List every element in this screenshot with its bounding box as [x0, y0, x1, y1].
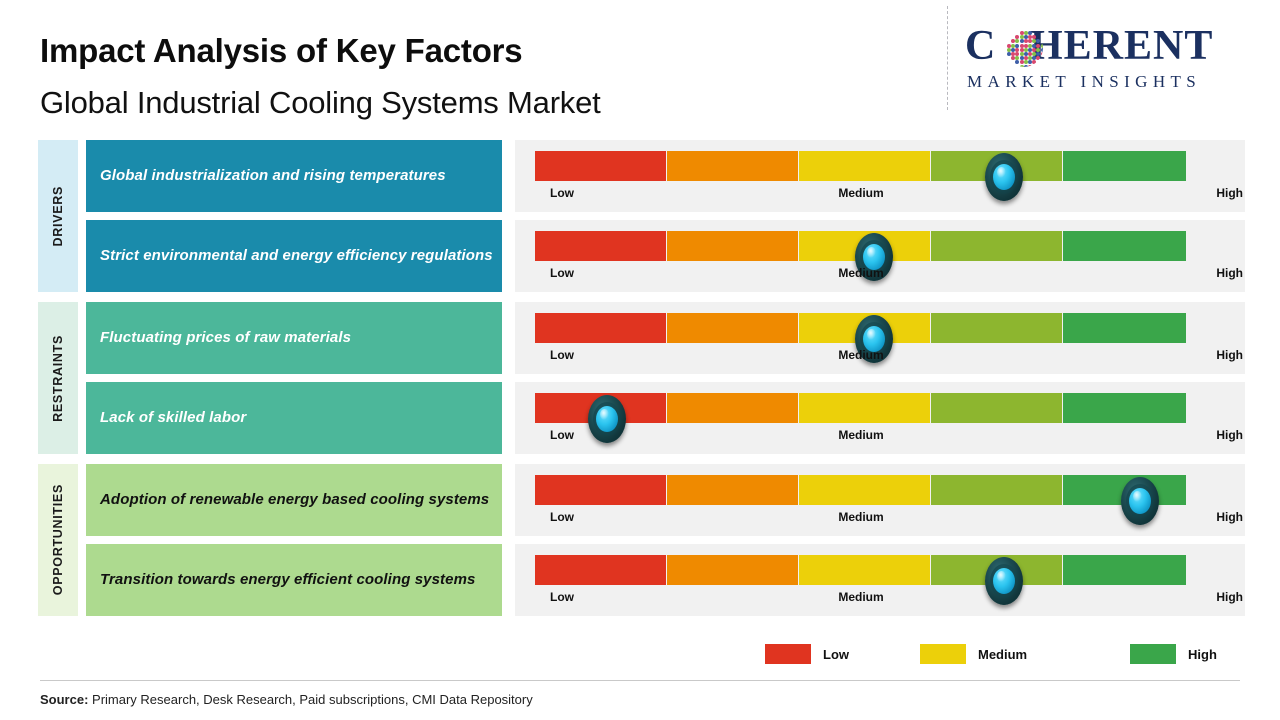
legend-label: High: [1188, 647, 1217, 662]
gauge-segment-0: [535, 475, 666, 505]
gauge-bar: [535, 393, 1186, 423]
gauge-segment-0: [535, 151, 666, 181]
gauge-segment-3: [931, 313, 1062, 343]
gauge-tick-medium: Medium: [838, 510, 883, 524]
impact-gauge: LowMediumHigh: [515, 220, 1245, 292]
factor-box[interactable]: Strict environmental and energy efficien…: [86, 220, 502, 292]
logo-divider: [947, 6, 948, 110]
matrix-row: Transition towards energy efficient cool…: [0, 544, 1280, 616]
logo-word-pre: C: [965, 23, 996, 69]
gauge-segment-0: [535, 555, 666, 585]
gauge-tick-high: High: [1216, 510, 1243, 524]
gauge-tick-high: High: [1216, 186, 1243, 200]
gauge-tick-low: Low: [550, 590, 574, 604]
factor-label: Transition towards energy efficient cool…: [100, 569, 475, 591]
gauge-tick-high: High: [1216, 590, 1243, 604]
gauge-ticks: LowMediumHigh: [535, 186, 1243, 204]
globe-icon: [1005, 29, 1043, 67]
impact-gauge: LowMediumHigh: [515, 382, 1245, 454]
impact-matrix: DRIVERSRESTRAINTSOPPORTUNITIESGlobal ind…: [0, 140, 1280, 610]
gauge-tick-low: Low: [550, 266, 574, 280]
gauge-ticks: LowMediumHigh: [535, 266, 1243, 284]
logo-tagline: MARKET INSIGHTS: [967, 72, 1263, 92]
gauge-segment-2: [799, 231, 930, 261]
gauge-tick-medium: Medium: [838, 348, 883, 362]
gauge-segment-0: [535, 231, 666, 261]
logo-word-post: HERENT: [1030, 23, 1213, 69]
gauge-segment-4: [1063, 313, 1186, 343]
factor-label: Global industrialization and rising temp…: [100, 165, 446, 187]
gauge-segment-4: [1063, 231, 1186, 261]
coherent-market-insights-logo: COHERENT MARKET INSIGHTS: [965, 22, 1265, 104]
gauge-segment-4: [1063, 475, 1186, 505]
gauge-tick-high: High: [1216, 266, 1243, 280]
gauge-segment-4: [1063, 393, 1186, 423]
gauge-segment-3: [931, 393, 1062, 423]
factor-box[interactable]: Lack of skilled labor: [86, 382, 502, 454]
matrix-row: Adoption of renewable energy based cooli…: [0, 464, 1280, 536]
source-note: Source: Primary Research, Desk Research,…: [40, 692, 533, 707]
impact-gauge: LowMediumHigh: [515, 464, 1245, 536]
gauge-bar: [535, 313, 1186, 343]
gauge-ticks: LowMediumHigh: [535, 428, 1243, 446]
gauge-bar: [535, 555, 1186, 585]
gauge-segment-4: [1063, 151, 1186, 181]
gauge-segment-1: [667, 393, 798, 423]
factor-label: Fluctuating prices of raw materials: [100, 327, 351, 349]
gauge-tick-low: Low: [550, 510, 574, 524]
factor-box[interactable]: Transition towards energy efficient cool…: [86, 544, 502, 616]
factor-label: Lack of skilled labor: [100, 407, 246, 429]
gauge-segment-2: [799, 475, 930, 505]
gauge-segment-3: [931, 151, 1062, 181]
factor-box[interactable]: Adoption of renewable energy based cooli…: [86, 464, 502, 536]
impact-gauge: LowMediumHigh: [515, 302, 1245, 374]
legend-item: Medium: [920, 644, 1027, 664]
gauge-segment-2: [799, 313, 930, 343]
legend-swatch: [765, 644, 811, 664]
gauge-tick-high: High: [1216, 348, 1243, 362]
page-subtitle: Global Industrial Cooling Systems Market: [40, 85, 601, 121]
slide: Impact Analysis of Key Factors Global In…: [0, 0, 1280, 720]
factor-box[interactable]: Fluctuating prices of raw materials: [86, 302, 502, 374]
gauge-tick-medium: Medium: [838, 590, 883, 604]
gauge-segment-2: [799, 151, 930, 181]
matrix-row: Fluctuating prices of raw materialsLowMe…: [0, 302, 1280, 374]
gauge-segment-0: [535, 313, 666, 343]
gauge-segment-2: [799, 555, 930, 585]
gauge-bar: [535, 231, 1186, 261]
gauge-segment-1: [667, 555, 798, 585]
legend-label: Low: [823, 647, 849, 662]
gauge-segment-4: [1063, 555, 1186, 585]
source-text: Primary Research, Desk Research, Paid su…: [88, 692, 532, 707]
gauge-segment-1: [667, 475, 798, 505]
gauge-ticks: LowMediumHigh: [535, 348, 1243, 366]
factor-box[interactable]: Global industrialization and rising temp…: [86, 140, 502, 212]
gauge-segment-1: [667, 313, 798, 343]
gauge-segment-3: [931, 475, 1062, 505]
footer-divider: [40, 680, 1240, 681]
source-label: Source:: [40, 692, 88, 707]
gauge-segment-3: [931, 555, 1062, 585]
gauge-tick-medium: Medium: [838, 186, 883, 200]
gauge-tick-high: High: [1216, 428, 1243, 442]
gauge-segment-1: [667, 151, 798, 181]
gauge-segment-3: [931, 231, 1062, 261]
page-title: Impact Analysis of Key Factors: [40, 32, 522, 70]
gauge-bar: [535, 475, 1186, 505]
gauge-ticks: LowMediumHigh: [535, 510, 1243, 528]
gauge-ticks: LowMediumHigh: [535, 590, 1243, 608]
legend-item: High: [1130, 644, 1217, 664]
impact-gauge: LowMediumHigh: [515, 544, 1245, 616]
legend-label: Medium: [978, 647, 1027, 662]
impact-gauge: LowMediumHigh: [515, 140, 1245, 212]
legend-swatch: [1130, 644, 1176, 664]
header: Impact Analysis of Key Factors Global In…: [0, 0, 1280, 130]
gauge-tick-medium: Medium: [838, 428, 883, 442]
matrix-row: Global industrialization and rising temp…: [0, 140, 1280, 212]
gauge-tick-low: Low: [550, 186, 574, 200]
legend-item: Low: [765, 644, 849, 664]
gauge-tick-low: Low: [550, 428, 574, 442]
matrix-row: Lack of skilled laborLowMediumHigh: [0, 382, 1280, 454]
gauge-tick-low: Low: [550, 348, 574, 362]
gauge-segment-0: [535, 393, 666, 423]
gauge-segment-2: [799, 393, 930, 423]
legend: LowMediumHigh: [760, 644, 1220, 670]
gauge-tick-medium: Medium: [838, 266, 883, 280]
matrix-row: Strict environmental and energy efficien…: [0, 220, 1280, 292]
gauge-segment-1: [667, 231, 798, 261]
legend-swatch: [920, 644, 966, 664]
factor-label: Adoption of renewable energy based cooli…: [100, 489, 489, 511]
gauge-bar: [535, 151, 1186, 181]
factor-label: Strict environmental and energy efficien…: [100, 245, 493, 267]
